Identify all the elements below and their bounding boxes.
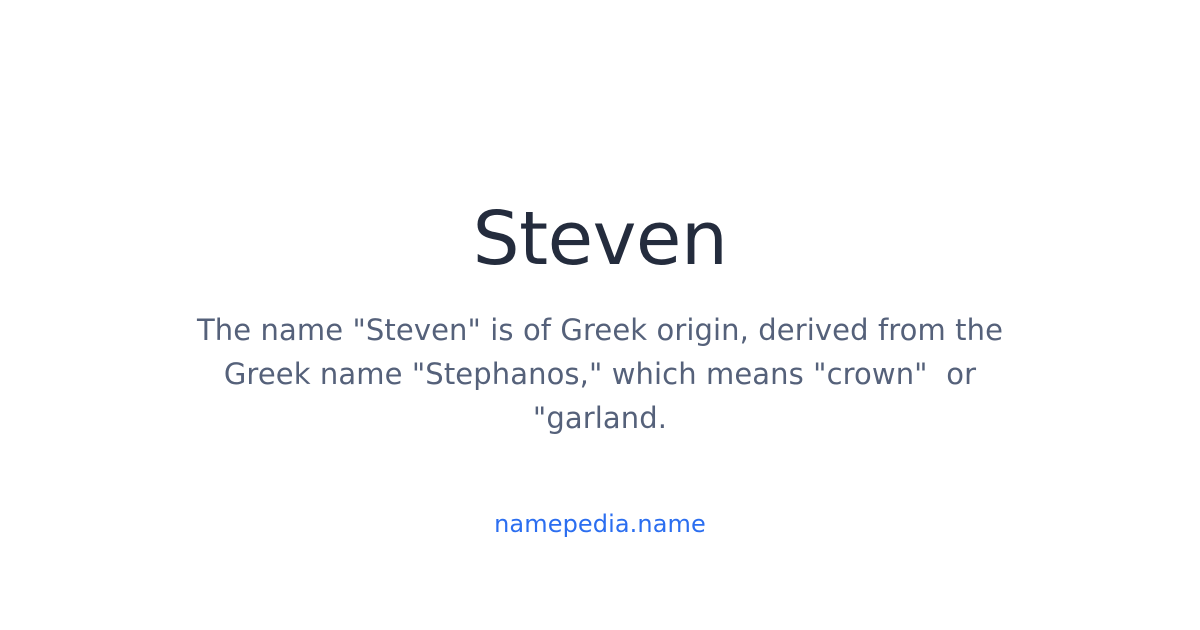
site-link[interactable]: namepedia.name <box>494 508 706 540</box>
open-graph-card: Steven The name "Steven" is of Greek ori… <box>0 0 1200 630</box>
page-title: Steven <box>473 196 728 282</box>
name-description: The name "Steven" is of Greek origin, de… <box>185 308 1015 440</box>
card-content: Steven The name "Steven" is of Greek ori… <box>0 0 1200 440</box>
footer: namepedia.name <box>0 508 1200 540</box>
